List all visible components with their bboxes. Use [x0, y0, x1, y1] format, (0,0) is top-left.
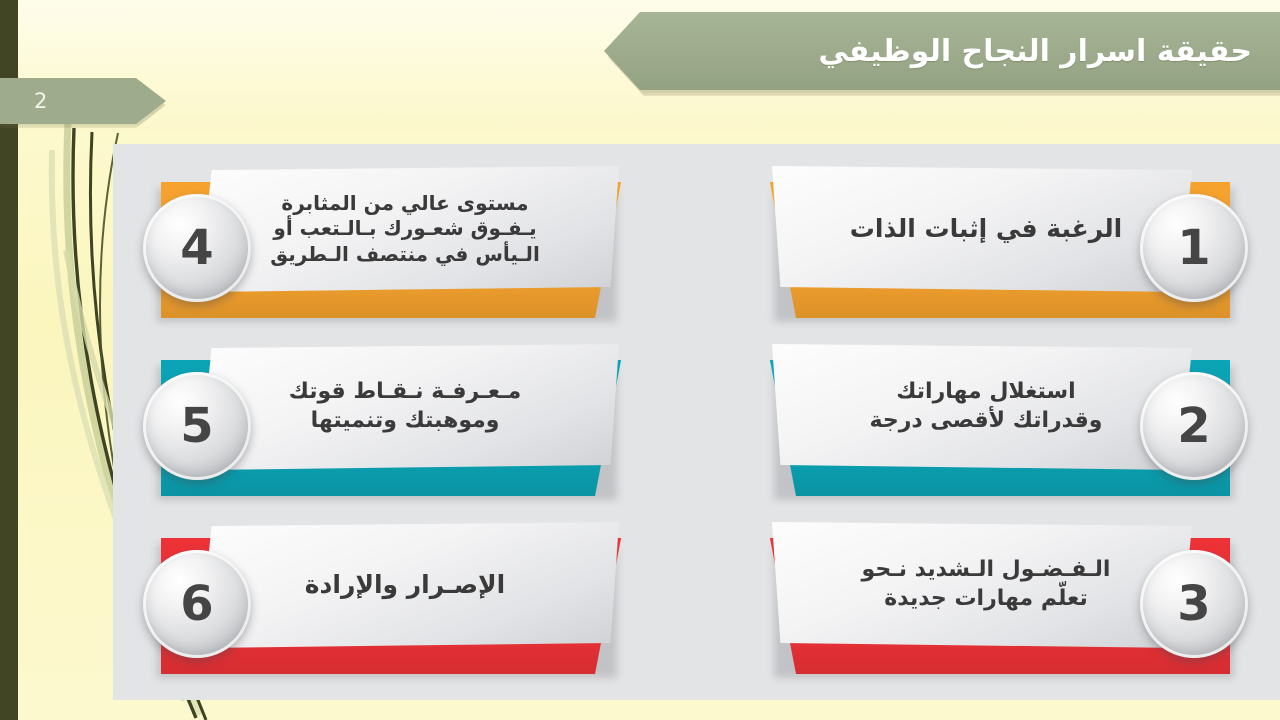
list-item: استغلال مهاراتكوقدراتك لأقصى درجة2: [727, 340, 1254, 498]
list-item: مستوى عالي من المثابرةيـفـوق شعـورك بـال…: [137, 162, 664, 320]
item-text-line: يـفـوق شعـورك بـالـتعب أو: [225, 216, 585, 242]
item-plate: الـفـضـول الـشديد نـحوتعلّم مهارات جديدة: [772, 522, 1192, 648]
item-number: 1: [1177, 224, 1210, 272]
item-text-line: استغلال مهاراتك: [806, 378, 1166, 407]
item-text-line: وموهبتك وتنميتها: [225, 407, 585, 436]
item-text-line: الرغبة في إثبات الذات: [806, 213, 1166, 245]
item-plate: استغلال مهاراتكوقدراتك لأقصى درجة: [772, 344, 1192, 470]
item-number: 4: [180, 224, 213, 272]
item-text: الـفـضـول الـشديد نـحوتعلّم مهارات جديدة: [806, 556, 1166, 613]
item-number: 6: [180, 580, 213, 628]
list-item: الرغبة في إثبات الذات1: [727, 162, 1254, 320]
item-number-circle: 6: [143, 550, 251, 658]
list-item: الـفـضـول الـشديد نـحوتعلّم مهارات جديدة…: [727, 518, 1254, 676]
slide-title: حقيقة اسرار النجاح الوظيفي: [818, 34, 1252, 69]
item-text: الإصـرار والإرادة: [225, 569, 585, 601]
item-plate: مستوى عالي من المثابرةيـفـوق شعـورك بـال…: [199, 166, 619, 292]
item-number-circle: 1: [1140, 194, 1248, 302]
list-item: مـعـرفـة نـقـاط قوتكوموهبتك وتنميتها5: [137, 340, 664, 498]
item-number: 3: [1177, 580, 1210, 628]
item-text-line: تعلّم مهارات جديدة: [806, 585, 1166, 614]
list-item: الإصـرار والإرادة6: [137, 518, 664, 676]
item-text-line: وقدراتك لأقصى درجة: [806, 407, 1166, 436]
item-text: مستوى عالي من المثابرةيـفـوق شعـورك بـال…: [225, 191, 585, 268]
item-text-line: الـيأس في منتصف الـطريق: [225, 242, 585, 268]
item-plate: مـعـرفـة نـقـاط قوتكوموهبتك وتنميتها: [199, 344, 619, 470]
item-plate: الإصـرار والإرادة: [199, 522, 619, 648]
item-number: 2: [1177, 402, 1210, 450]
item-text: استغلال مهاراتكوقدراتك لأقصى درجة: [806, 378, 1166, 435]
item-text: مـعـرفـة نـقـاط قوتكوموهبتك وتنميتها: [225, 378, 585, 435]
item-text-line: الـفـضـول الـشديد نـحو: [806, 556, 1166, 585]
item-text: الرغبة في إثبات الذات: [806, 213, 1166, 245]
item-number-circle: 5: [143, 372, 251, 480]
page-number: 2: [34, 91, 47, 112]
item-text-line: الإصـرار والإرادة: [225, 569, 585, 601]
content-panel: الرغبة في إثبات الذات1استغلال مهاراتكوقد…: [113, 144, 1280, 700]
slide-title-banner: حقيقة اسرار النجاح الوظيفي: [604, 12, 1280, 90]
item-number-circle: 2: [1140, 372, 1248, 480]
page-number-badge: 2: [0, 78, 166, 124]
item-number-circle: 4: [143, 194, 251, 302]
item-text-line: مستوى عالي من المثابرة: [225, 191, 585, 217]
item-plate: الرغبة في إثبات الذات: [772, 166, 1192, 292]
item-number-circle: 3: [1140, 550, 1248, 658]
items-grid: الرغبة في إثبات الذات1استغلال مهاراتكوقد…: [113, 144, 1280, 700]
presentation-slide: حقيقة اسرار النجاح الوظيفي 2 الرغبة في إ…: [0, 0, 1280, 720]
item-number: 5: [180, 402, 213, 450]
item-text-line: مـعـرفـة نـقـاط قوتك: [225, 378, 585, 407]
